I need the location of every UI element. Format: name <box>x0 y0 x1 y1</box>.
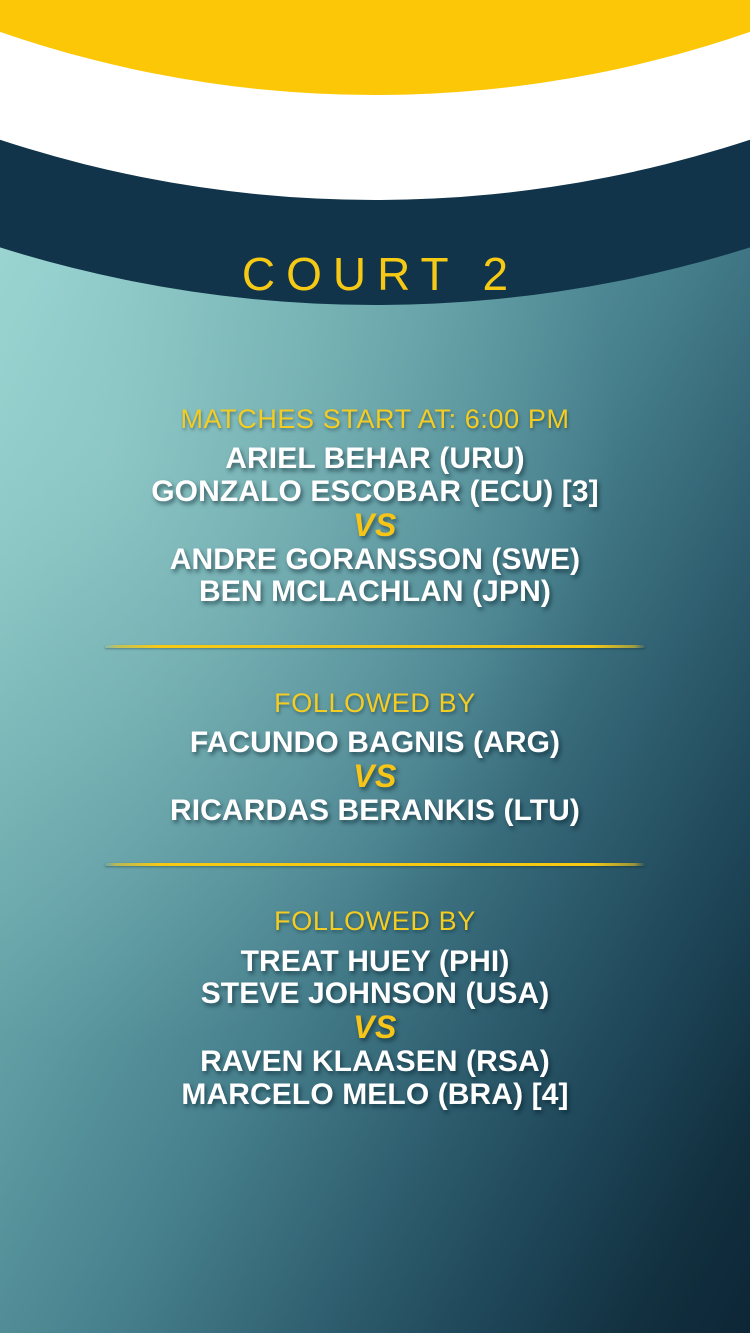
player-name: ANDRE GORANSSON (SWE) <box>0 544 750 576</box>
match-side-b: RAVEN KLAASEN (RSA)MARCELO MELO (BRA) [4… <box>0 1046 750 1111</box>
match-side-a: FACUNDO BAGNIS (ARG) <box>0 727 750 759</box>
player-name: FACUNDO BAGNIS (ARG) <box>0 727 750 759</box>
match-list: MATCHES START AT: 6:00 PMARIEL BEHAR (UR… <box>0 404 750 1111</box>
player-name: BEN MCLACHLAN (JPN) <box>0 576 750 608</box>
player-name: RICARDAS BERANKIS (LTU) <box>0 795 750 827</box>
match-side-b: RICARDAS BERANKIS (LTU) <box>0 795 750 827</box>
player-name: MARCELO MELO (BRA) [4] <box>0 1079 750 1111</box>
spacer <box>0 609 750 645</box>
match-start-time: MATCHES START AT: 6:00 PM <box>0 404 750 434</box>
player-name: TREAT HUEY (PHI) <box>0 946 750 978</box>
match-side-a: TREAT HUEY (PHI)STEVE JOHNSON (USA) <box>0 946 750 1011</box>
player-name: STEVE JOHNSON (USA) <box>0 978 750 1010</box>
player-name: ARIEL BEHAR (URU) <box>0 443 750 475</box>
followed-by-label: FOLLOWED BY <box>0 906 750 936</box>
followed-by-label: FOLLOWED BY <box>0 688 750 718</box>
vs-separator: VS <box>0 759 750 795</box>
player-name: RAVEN KLAASEN (RSA) <box>0 1046 750 1078</box>
match-block: FOLLOWED BYTREAT HUEY (PHI)STEVE JOHNSON… <box>0 906 750 1111</box>
match-side-a: ARIEL BEHAR (URU)GONZALO ESCOBAR (ECU) [… <box>0 443 750 508</box>
player-name: GONZALO ESCOBAR (ECU) [3] <box>0 476 750 508</box>
match-block: MATCHES START AT: 6:00 PMARIEL BEHAR (UR… <box>0 404 750 609</box>
court-label: COURT 2 <box>0 247 750 301</box>
spacer <box>0 866 750 906</box>
vs-separator: VS <box>0 1010 750 1046</box>
match-side-b: ANDRE GORANSSON (SWE)BEN MCLACHLAN (JPN) <box>0 544 750 609</box>
match-block: FOLLOWED BYFACUNDO BAGNIS (ARG)VSRICARDA… <box>0 688 750 828</box>
spacer <box>0 648 750 688</box>
spacer <box>0 827 750 863</box>
vs-separator: VS <box>0 508 750 544</box>
order-of-play-poster: ORDER OF PLAY COURT 2 MATCHES START AT: … <box>0 0 750 1333</box>
